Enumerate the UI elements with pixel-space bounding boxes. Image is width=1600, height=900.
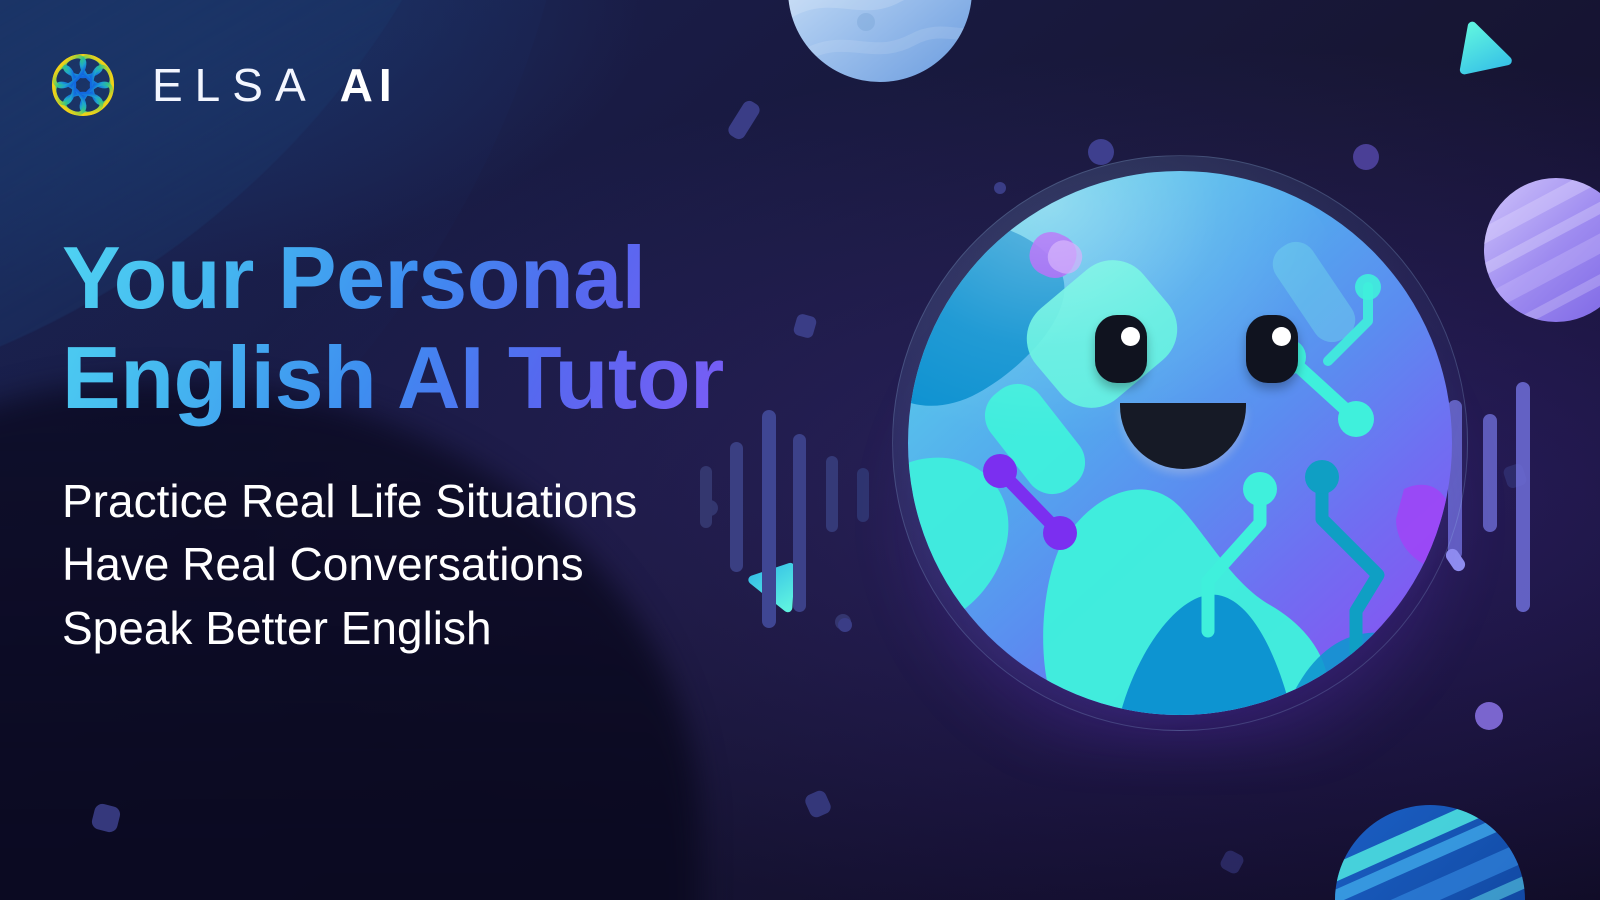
- globe-mascot: [880, 145, 1480, 745]
- hero-bullet-3: Speak Better English: [62, 597, 637, 660]
- left-eye: [1095, 315, 1147, 383]
- globe-body: [908, 171, 1452, 715]
- page-title: Your Personal English AI Tutor: [62, 228, 724, 429]
- right-eye: [1246, 315, 1298, 383]
- planet-top-blue: [788, 0, 980, 82]
- left-eye-glint: [1121, 327, 1140, 346]
- triangle-top-right-icon: [1459, 26, 1514, 81]
- brand-name-secondary: AI: [340, 58, 398, 112]
- planet-bottom-blue: [1300, 781, 1560, 900]
- brand-logo[interactable]: ELSA AI: [40, 42, 398, 128]
- elsa-flower-logo-icon: [40, 42, 126, 128]
- waveform-left: [700, 340, 885, 590]
- right-eye-glint: [1272, 327, 1291, 346]
- brand-name-primary: ELSA: [152, 58, 318, 112]
- hero-bullets: Practice Real Life Situations Have Real …: [62, 470, 637, 660]
- hero-bullet-2: Have Real Conversations: [62, 533, 637, 596]
- hero-banner: ELSA AI Your Personal English AI Tutor P…: [0, 0, 1600, 900]
- hero-bullet-1: Practice Real Life Situations: [62, 470, 637, 533]
